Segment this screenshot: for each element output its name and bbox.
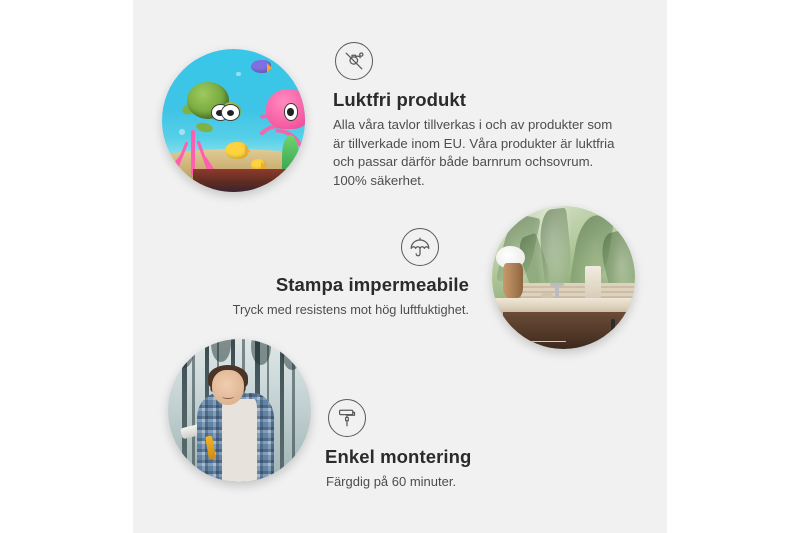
forest-scene [168, 339, 311, 482]
cabinet-handle [611, 319, 615, 342]
octopus-illustration [254, 89, 305, 149]
backsplash [521, 283, 635, 297]
vase [503, 263, 523, 297]
feature-description: Alla våra tavlor tillverkas i och av pro… [333, 116, 623, 191]
photo-bathroom [492, 206, 635, 349]
vanity-cabinet [503, 312, 635, 349]
towel [585, 266, 601, 297]
icon-row [213, 228, 469, 266]
feature-description: Färgdig på 60 minuter. [325, 473, 585, 491]
feature-waterproof: Stampa impermeabile Tryck med resistens … [213, 228, 469, 319]
feature-title: Stampa impermeabile [213, 274, 469, 296]
bubble-icon [236, 72, 240, 76]
infographic-root: Luktfri produkt Alla våra tavlor tillver… [0, 0, 800, 533]
feature-odourless: Luktfri produkt Alla våra tavlor tillver… [333, 42, 623, 191]
tree-trunk [192, 339, 194, 482]
woman-face [212, 370, 243, 404]
content-panel: Luktfri produkt Alla våra tavlor tillver… [133, 0, 667, 533]
feature-description: Tryck med resistens mot hög luftfuktighe… [213, 301, 469, 319]
ocean-scene [162, 49, 305, 192]
photo-ocean [162, 49, 305, 192]
no-fragrance-spray-icon [335, 42, 373, 80]
photo-woman [168, 339, 311, 482]
umbrella-icon [401, 228, 439, 266]
feature-install: Enkel montering Färgdig på 60 minuter. [325, 399, 585, 491]
woman-shirt [222, 399, 256, 482]
paint-roller-icon [328, 399, 366, 437]
bathroom-scene [492, 206, 635, 349]
fish-icon [225, 142, 248, 159]
faucet [555, 283, 559, 297]
drawer-handle [512, 341, 566, 342]
feature-title: Luktfri produkt [333, 89, 623, 111]
woman-smile [222, 394, 233, 399]
coral-branch [191, 130, 195, 175]
octopus-eye [284, 103, 299, 121]
turtle-illustration [182, 80, 239, 126]
feature-title: Enkel montering [325, 446, 585, 468]
coral-illustration [172, 126, 215, 175]
ocean-foreground-strip [193, 169, 305, 192]
fish-icon [251, 60, 271, 73]
